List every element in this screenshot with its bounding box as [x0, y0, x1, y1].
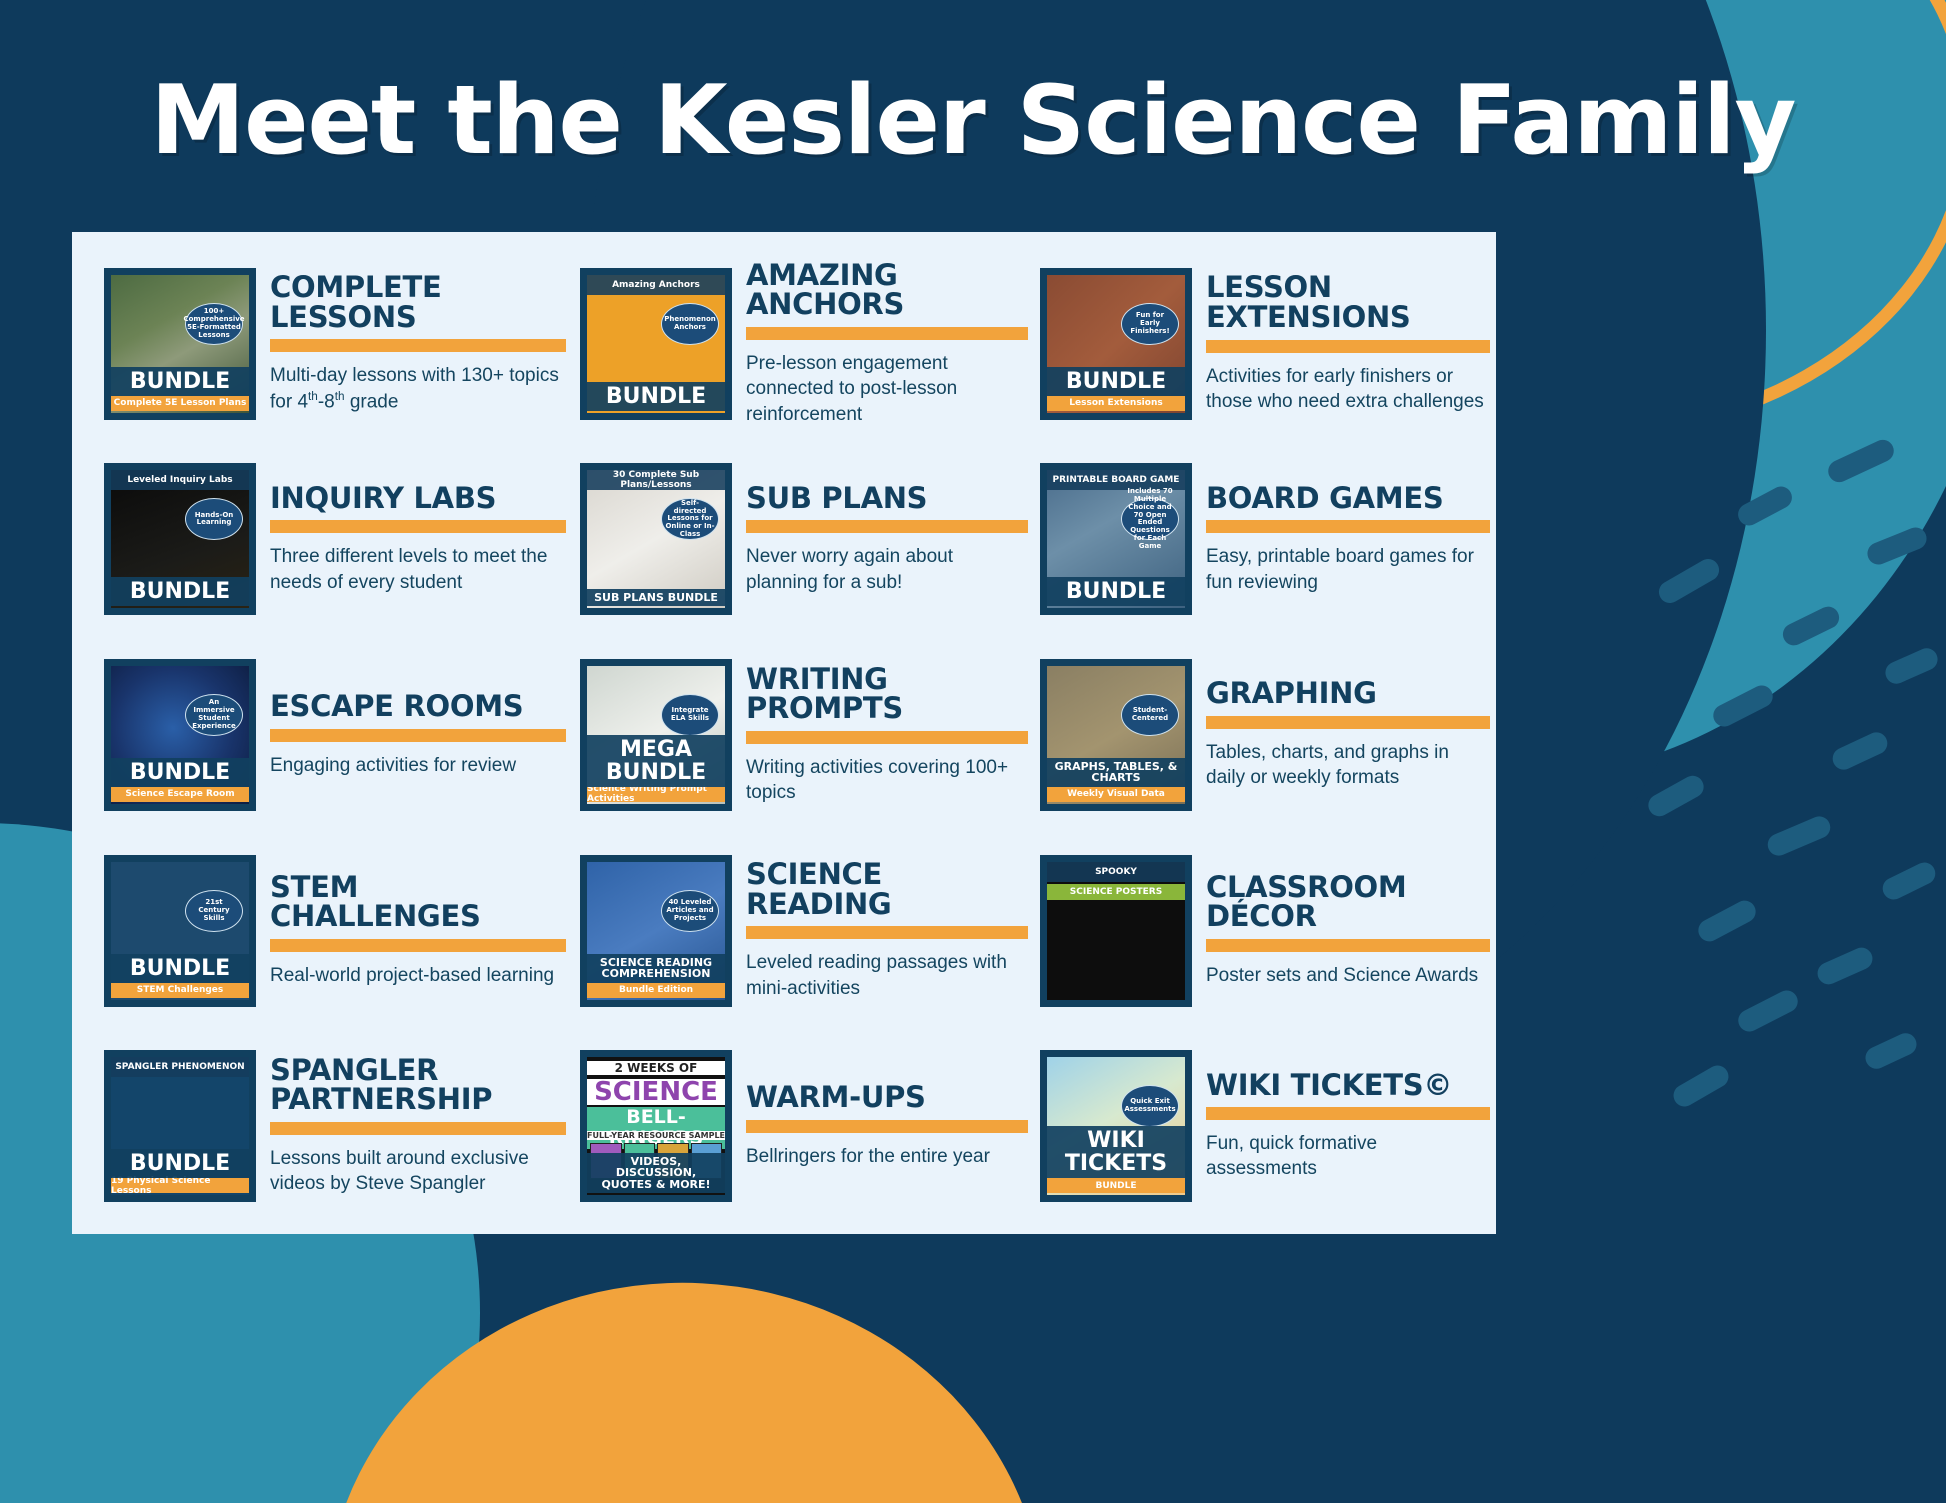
- product-description: Real-world project-based learning: [270, 963, 566, 988]
- thumbnail-caption: MEGA BUNDLE: [587, 735, 725, 787]
- product-text: SPANGLER PARTNERSHIPLessons built around…: [270, 1056, 566, 1197]
- thumbnail-badge: Includes 70 Multiple Choice and 70 Open …: [1121, 498, 1179, 540]
- thumbnail-caption: VIDEOS, DISCUSSION, QUOTES & MORE!: [587, 1153, 725, 1194]
- orange-rule: [270, 339, 566, 352]
- product-item[interactable]: 100+ Comprehensive 5E-Formatted LessonsC…: [104, 246, 566, 442]
- thumbnail-subcaption: Science Escape Room: [111, 787, 249, 802]
- product-heading: WIKI TICKETS©: [1206, 1071, 1490, 1101]
- orange-rule: [270, 1122, 566, 1135]
- dash-mark: [1734, 483, 1796, 530]
- dash-mark: [1694, 897, 1759, 946]
- thumbnail-badge: Integrate ELA Skills: [661, 694, 719, 736]
- product-description: Fun, quick formative assessments: [1206, 1131, 1490, 1182]
- dash-mark: [1814, 944, 1876, 988]
- thumbnail-badge: 40 Leveled Articles and Projects: [661, 890, 719, 932]
- dash-mark: [1864, 524, 1930, 568]
- orange-rule: [746, 1120, 1028, 1133]
- product-heading: SUB PLANS: [746, 484, 1028, 514]
- thumbnail-caption: BUNDLE: [1047, 367, 1185, 396]
- dash-pattern: [1616, 440, 1946, 1120]
- orange-rule: [1206, 340, 1490, 353]
- dash-mark: [1779, 603, 1843, 649]
- thumbnail-subtopbar: SCIENCE POSTERS: [1047, 884, 1185, 900]
- product-thumbnail[interactable]: An Immersive Student ExperienceScience E…: [104, 659, 256, 811]
- thumbnail-subcaption: Complete 5E Lesson Plans: [111, 396, 249, 411]
- product-description: Bellringers for the entire year: [746, 1144, 1028, 1169]
- thumbnail-caption: BUNDLE: [111, 758, 249, 787]
- product-panel: 100+ Comprehensive 5E-Formatted LessonsC…: [72, 232, 1496, 1234]
- orange-rule: [746, 520, 1028, 533]
- product-description: Activities for early finishers or those …: [1206, 364, 1490, 415]
- thumbnail-badge: 21st Century Skills: [185, 890, 243, 932]
- product-description: Multi-day lessons with 130+ topics for 4…: [270, 363, 566, 414]
- product-heading: LESSON EXTENSIONS: [1206, 273, 1490, 332]
- product-description: Writing activities covering 100+ topics: [746, 755, 1028, 806]
- product-item[interactable]: Fun for Early Finishers!Lesson Extension…: [1028, 246, 1490, 442]
- thumbnail-badge: Student-Centered: [1121, 694, 1179, 736]
- product-heading: INQUIRY LABS: [270, 484, 566, 514]
- dash-mark: [1764, 813, 1833, 859]
- product-heading: WARM-UPS: [746, 1083, 1028, 1113]
- product-thumbnail[interactable]: 30 Complete Sub Plans/LessonsSelf-direct…: [580, 463, 732, 615]
- product-text: GRAPHINGTables, charts, and graphs in da…: [1206, 679, 1490, 790]
- orange-rule: [746, 731, 1028, 744]
- orange-rule: [270, 939, 566, 952]
- thumbnail-caption: WIKI TICKETS: [1047, 1126, 1185, 1178]
- thumbnail-caption: SCIENCE READING COMPREHENSION: [587, 954, 725, 983]
- product-text: AMAZING ANCHORSPre-lesson engagement con…: [746, 261, 1028, 427]
- thumbnail-topbar: SPOOKY: [1047, 862, 1185, 882]
- product-heading: WRITING PROMPTS: [746, 665, 1028, 724]
- product-thumbnail[interactable]: PRINTABLE BOARD GAMEIncludes 70 Multiple…: [1040, 463, 1192, 615]
- thumbnail-badge: Quick Exit Assessments: [1121, 1085, 1179, 1127]
- thumbnail-caption: BUNDLE: [111, 1149, 249, 1178]
- thumbnail-subcaption: Weekly Visual Data: [1047, 787, 1185, 802]
- product-thumbnail[interactable]: 2 WEEKS OFSCIENCEBELL-RINGERSFULL-YEAR R…: [580, 1050, 732, 1202]
- product-thumbnail[interactable]: Fun for Early Finishers!Lesson Extension…: [1040, 268, 1192, 420]
- product-item[interactable]: Leveled Inquiry LabsHands-On LearningBUN…: [104, 442, 566, 638]
- product-description: Tables, charts, and graphs in daily or w…: [1206, 740, 1490, 791]
- bottom-navy-band: [1040, 1333, 1946, 1503]
- thumbnail-line4: FULL-YEAR RESOURCE SAMPLE: [587, 1131, 725, 1140]
- dash-mark: [1829, 729, 1891, 773]
- dash-mark: [1655, 555, 1723, 607]
- product-thumbnail[interactable]: Integrate ELA SkillsScience Writing Prom…: [580, 659, 732, 811]
- product-heading: GRAPHING: [1206, 679, 1490, 709]
- product-description: Poster sets and Science Awards: [1206, 963, 1490, 988]
- product-text: WIKI TICKETS©Fun, quick formative assess…: [1206, 1071, 1490, 1182]
- thumbnail-badge: Phenomenon Anchors: [661, 303, 719, 345]
- dash-mark: [1879, 859, 1939, 903]
- product-heading: AMAZING ANCHORS: [746, 261, 1028, 320]
- thumbnail-badge: An Immersive Student Experience: [185, 694, 243, 736]
- thumbnail-badge: Self-directed Lessons for Online or In-C…: [661, 498, 719, 540]
- product-text: LESSON EXTENSIONSActivities for early fi…: [1206, 273, 1490, 414]
- thumbnail-caption: BUNDLE: [111, 367, 249, 396]
- dash-mark: [1734, 987, 1801, 1036]
- product-heading: BOARD GAMES: [1206, 484, 1490, 514]
- product-item[interactable]: Amazing AnchorsPhenomenon AnchorsBUNDLEA…: [566, 246, 1028, 442]
- product-heading: STEM CHALLENGES: [270, 873, 566, 932]
- product-text: CLASSROOM DÉCORPoster sets and Science A…: [1206, 873, 1490, 988]
- product-heading: SPANGLER PARTNERSHIP: [270, 1056, 566, 1115]
- dash-mark: [1862, 1030, 1920, 1073]
- product-text: SCIENCE READINGLeveled reading passages …: [746, 860, 1028, 1001]
- product-thumbnail[interactable]: 100+ Comprehensive 5E-Formatted LessonsC…: [104, 268, 256, 420]
- product-item[interactable]: Integrate ELA SkillsScience Writing Prom…: [566, 637, 1028, 833]
- dash-mark: [1670, 1061, 1733, 1110]
- product-item[interactable]: Quick Exit AssessmentsBUNDLEWIKI TICKETS…: [1028, 1028, 1490, 1224]
- thumbnail-topbar: Leveled Inquiry Labs: [111, 470, 249, 490]
- product-description: Easy, printable board games for fun revi…: [1206, 544, 1490, 595]
- thumbnail-caption: SUB PLANS BUNDLE: [587, 589, 725, 607]
- product-thumbnail[interactable]: Amazing AnchorsPhenomenon AnchorsBUNDLE: [580, 268, 732, 420]
- dash-mark: [1825, 436, 1898, 486]
- dash-mark: [1882, 645, 1941, 687]
- thumbnail-subcaption: Lesson Extensions: [1047, 396, 1185, 411]
- orange-rule: [1206, 520, 1490, 533]
- product-text: SUB PLANSNever worry again about plannin…: [746, 484, 1028, 595]
- product-text: STEM CHALLENGESReal-world project-based …: [270, 873, 566, 988]
- thumbnail-caption: GRAPHS, TABLES, & CHARTS: [1047, 758, 1185, 787]
- product-text: WRITING PROMPTSWriting activities coveri…: [746, 665, 1028, 806]
- product-item[interactable]: An Immersive Student ExperienceScience E…: [104, 637, 566, 833]
- product-thumbnail[interactable]: SPOOKYSCIENCE POSTERS: [1040, 855, 1192, 1007]
- product-text: ESCAPE ROOMSEngaging activities for revi…: [270, 692, 566, 778]
- thumbnail-caption: BUNDLE: [1047, 577, 1185, 606]
- product-thumbnail[interactable]: 40 Leveled Articles and ProjectsBundle E…: [580, 855, 732, 1007]
- thumbnail-topbar: Amazing Anchors: [587, 275, 725, 295]
- dash-mark: [1644, 772, 1707, 820]
- thumbnail-art: [1047, 862, 1185, 1000]
- product-heading: CLASSROOM DÉCOR: [1206, 873, 1490, 932]
- product-thumbnail[interactable]: SPANGLER PHENOMENON19 Physical Science L…: [104, 1050, 256, 1202]
- thumbnail-badge: 100+ Comprehensive 5E-Formatted Lessons: [185, 303, 243, 345]
- product-item[interactable]: PRINTABLE BOARD GAMEIncludes 70 Multiple…: [1028, 442, 1490, 638]
- orange-rule: [746, 327, 1028, 340]
- thumbnail-caption: BUNDLE: [587, 382, 725, 411]
- product-description: Lessons built around exclusive videos by…: [270, 1146, 566, 1197]
- thumbnail-art: [587, 470, 725, 608]
- product-item[interactable]: 30 Complete Sub Plans/LessonsSelf-direct…: [566, 442, 1028, 638]
- product-heading: SCIENCE READING: [746, 860, 1028, 919]
- product-item[interactable]: Student-CenteredWeekly Visual DataGRAPHS…: [1028, 637, 1490, 833]
- orange-rule: [1206, 716, 1490, 729]
- thumbnail-subcaption: Science Writing Prompt Activities: [587, 787, 725, 802]
- orange-rule: [1206, 939, 1490, 952]
- thumbnail-topbar: 30 Complete Sub Plans/Lessons: [587, 470, 725, 490]
- product-description: Never worry again about planning for a s…: [746, 544, 1028, 595]
- product-description: Three different levels to meet the needs…: [270, 544, 566, 595]
- orange-rule: [270, 520, 566, 533]
- thumbnail-subcaption: BUNDLE: [1047, 1178, 1185, 1193]
- product-description: Pre-lesson engagement connected to post-…: [746, 351, 1028, 427]
- product-item[interactable]: 2 WEEKS OFSCIENCEBELL-RINGERSFULL-YEAR R…: [566, 1028, 1028, 1224]
- product-text: WARM-UPSBellringers for the entire year: [746, 1083, 1028, 1169]
- product-thumbnail[interactable]: Student-CenteredWeekly Visual DataGRAPHS…: [1040, 659, 1192, 811]
- product-thumbnail[interactable]: Quick Exit AssessmentsBUNDLEWIKI TICKETS: [1040, 1050, 1192, 1202]
- product-item[interactable]: 21st Century SkillsSTEM ChallengesBUNDLE…: [104, 833, 566, 1029]
- product-heading: ESCAPE ROOMS: [270, 692, 566, 722]
- page-title: Meet the Kesler Science Family: [0, 66, 1946, 176]
- product-item[interactable]: SPOOKYSCIENCE POSTERSCLASSROOM DÉCORPost…: [1028, 833, 1490, 1029]
- thumbnail-line2: SCIENCE: [587, 1079, 725, 1105]
- dash-mark: [1709, 682, 1776, 731]
- product-thumbnail[interactable]: Leveled Inquiry LabsHands-On LearningBUN…: [104, 463, 256, 615]
- thumbnail-caption: BUNDLE: [111, 954, 249, 983]
- orange-rule: [746, 926, 1028, 939]
- product-text: INQUIRY LABSThree different levels to me…: [270, 484, 566, 595]
- product-text: COMPLETE LESSONSMulti-day lessons with 1…: [270, 273, 566, 414]
- product-grid: 100+ Comprehensive 5E-Formatted LessonsC…: [72, 232, 1496, 1234]
- product-description: Leveled reading passages with mini-activ…: [746, 950, 1028, 1001]
- thumbnail-badge: Fun for Early Finishers!: [1121, 303, 1179, 345]
- thumbnail-topbar: SPANGLER PHENOMENON: [111, 1057, 249, 1077]
- product-heading: COMPLETE LESSONS: [270, 273, 566, 332]
- thumbnail-subcaption: Bundle Edition: [587, 983, 725, 998]
- thumbnail-caption: BUNDLE: [111, 577, 249, 606]
- product-item[interactable]: SPANGLER PHENOMENON19 Physical Science L…: [104, 1028, 566, 1224]
- product-description: Engaging activities for review: [270, 753, 566, 778]
- thumbnail-line1: 2 WEEKS OF: [587, 1061, 725, 1075]
- orange-rule: [270, 729, 566, 742]
- product-thumbnail[interactable]: 21st Century SkillsSTEM ChallengesBUNDLE: [104, 855, 256, 1007]
- thumbnail-subcaption: 19 Physical Science Lessons: [111, 1178, 249, 1193]
- thumbnail-subcaption: STEM Challenges: [111, 983, 249, 998]
- orange-rule: [1206, 1107, 1490, 1120]
- product-item[interactable]: 40 Leveled Articles and ProjectsBundle E…: [566, 833, 1028, 1029]
- product-text: BOARD GAMESEasy, printable board games f…: [1206, 484, 1490, 595]
